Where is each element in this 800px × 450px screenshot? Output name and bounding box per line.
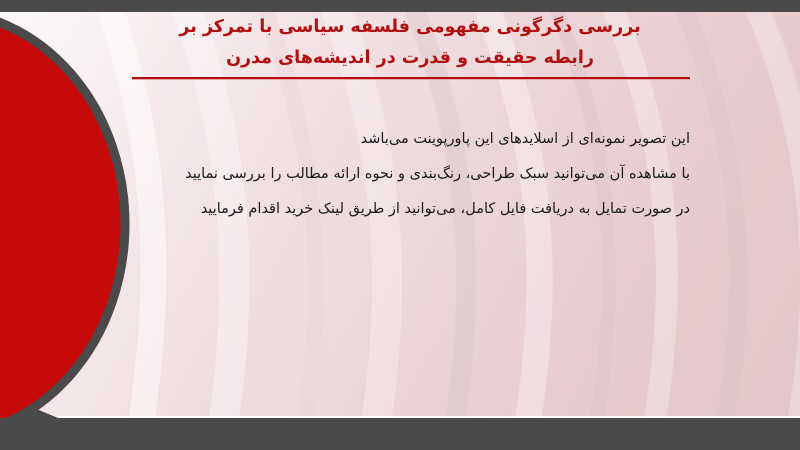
body-line-2: با مشاهده آن می‌توانید سبک طراحی، رنگ‌بن… bbox=[130, 157, 690, 192]
body-line-1: این تصویر نمونه‌ای از اسلایدهای این پاور… bbox=[130, 122, 690, 157]
presentation-slide: بررسی دگرگونی مفهومی فلسفه سیاسی با تمرک… bbox=[0, 0, 800, 450]
title-underline-rule bbox=[132, 77, 690, 80]
red-ellipse-shape bbox=[0, 6, 130, 442]
bottom-frame-bar bbox=[0, 418, 800, 450]
slide-title-line-1: بررسی دگرگونی مفهومی فلسفه سیاسی با تمرک… bbox=[130, 12, 690, 43]
top-frame-bar bbox=[0, 0, 800, 12]
body-line-3: در صورت تمایل به دریافت فایل کامل، می‌تو… bbox=[130, 192, 690, 227]
slide-title-line-2: رابطه حقیقت و قدرت در اندیشه‌های مدرن bbox=[130, 43, 690, 74]
slide-title: بررسی دگرگونی مفهومی فلسفه سیاسی با تمرک… bbox=[130, 12, 690, 80]
slide-body-text: این تصویر نمونه‌ای از اسلایدهای این پاور… bbox=[130, 122, 690, 227]
